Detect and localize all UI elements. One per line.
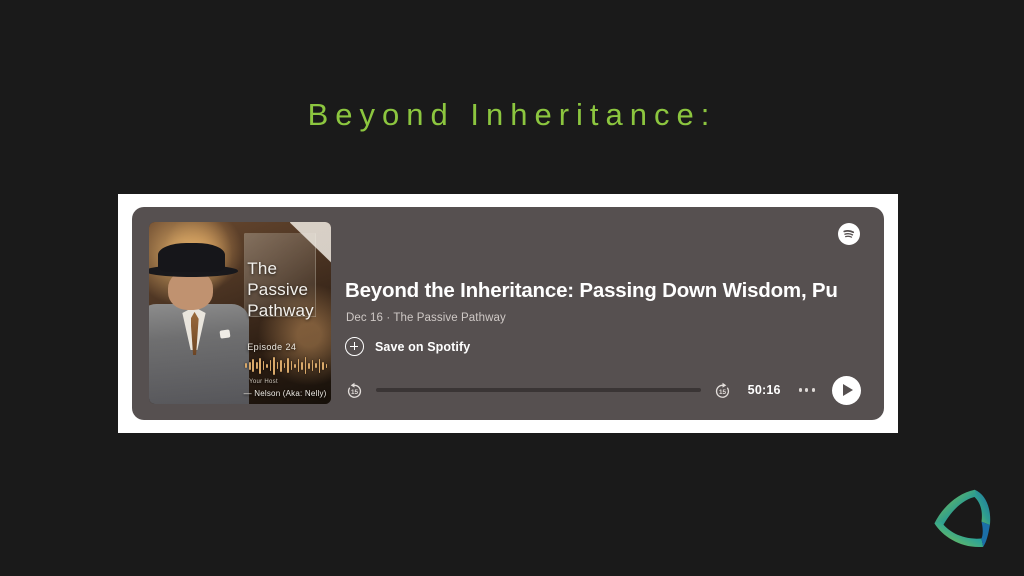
album-art-host-label: Your Host: [249, 379, 278, 385]
svg-text:15: 15: [351, 388, 359, 395]
save-on-spotify-button[interactable]: Save on Spotify: [345, 337, 470, 356]
album-art-show-title-wrap: The Passive Pathway: [247, 258, 331, 321]
triangle-brand-logo: [920, 478, 1006, 562]
plus-circle-icon: [345, 337, 364, 356]
waveform-icon: [245, 357, 327, 375]
player-content: Beyond the Inheritance: Passing Down Wis…: [345, 207, 884, 420]
album-art-host-figure: [149, 237, 255, 404]
episode-meta: Dec 16 · The Passive Pathway: [346, 312, 506, 324]
spotify-player-card[interactable]: The Passive Pathway Episode 24 Your Host…: [132, 207, 884, 420]
rewind-15-icon[interactable]: 15: [345, 381, 364, 400]
svg-text:15: 15: [719, 388, 727, 395]
album-art-corner-accent: [287, 222, 331, 264]
album-art[interactable]: The Passive Pathway Episode 24 Your Host…: [149, 222, 331, 404]
spotify-icon[interactable]: [838, 223, 860, 245]
album-art-episode-label: Episode 24: [247, 342, 296, 352]
page-title-line-1: Beyond Inheritance:: [0, 94, 1024, 136]
album-art-show-title: The Passive Pathway: [247, 258, 331, 321]
album-art-host-name: — Nelson (Aka: Nelly): [244, 389, 327, 398]
slide-canvas: Beyond Inheritance: Passing Down Wisdom,…: [0, 0, 1024, 576]
progress-bar[interactable]: [376, 383, 701, 397]
figure-hat: [158, 243, 226, 271]
forward-15-icon[interactable]: 15: [713, 381, 732, 400]
embed-frame: The Passive Pathway Episode 24 Your Host…: [118, 194, 898, 433]
more-options-icon[interactable]: [799, 388, 815, 391]
play-button[interactable]: [832, 376, 861, 405]
duration-label: 50:16: [748, 383, 781, 397]
play-icon: [843, 384, 853, 396]
episode-title: Beyond the Inheritance: Passing Down Wis…: [345, 279, 884, 303]
player-controls: 15 15 50:16: [345, 374, 861, 406]
progress-track: [376, 388, 701, 391]
save-on-spotify-label: Save on Spotify: [375, 340, 470, 354]
